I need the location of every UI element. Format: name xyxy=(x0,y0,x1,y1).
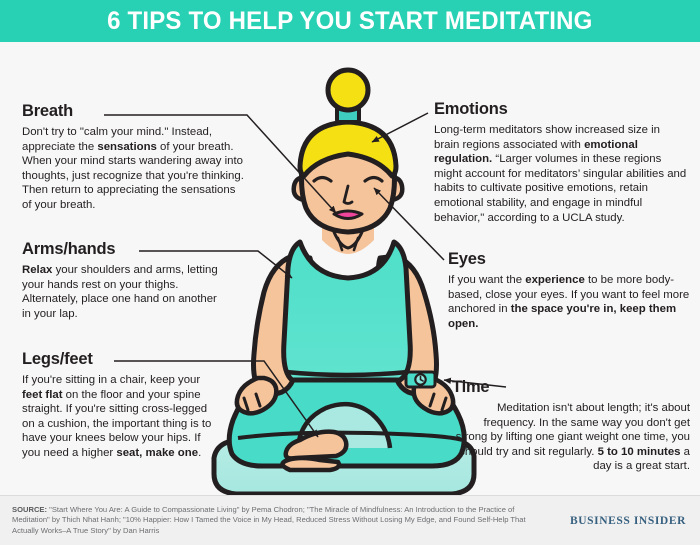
neck-shoulders xyxy=(322,220,374,254)
tip-time-title: Time xyxy=(452,378,690,397)
tip-eyes: Eyes If you want the experience to be mo… xyxy=(448,250,692,331)
wristwatch-icon xyxy=(406,372,435,387)
left-arm xyxy=(237,256,312,413)
meditation-mat xyxy=(214,441,474,494)
crossed-feet xyxy=(282,432,346,470)
hair-bun xyxy=(328,70,368,110)
source-note: SOURCE: "Start Where You Are: A Guide to… xyxy=(12,505,552,537)
tip-emotions-title: Emotions xyxy=(434,100,688,119)
tip-arms-hands: Arms/hands Relax your shoulders and arms… xyxy=(22,240,222,321)
infographic-canvas: Breath Don't try to "calm your mind." In… xyxy=(0,42,700,495)
tip-arms-hands-title: Arms/hands xyxy=(22,240,222,259)
tip-breath-title: Breath xyxy=(22,102,244,121)
footer: SOURCE: "Start Where You Are: A Guide to… xyxy=(0,495,700,545)
tip-time-body: Meditation isn't about length; it's abou… xyxy=(452,401,690,474)
head xyxy=(294,126,403,232)
tip-legs-feet-body: If you're sitting in a chair, keep your … xyxy=(22,373,218,461)
source-label: SOURCE: xyxy=(12,505,47,514)
tip-breath: Breath Don't try to "calm your mind." In… xyxy=(22,102,244,213)
tip-time: Time Meditation isn't about length; it's… xyxy=(452,378,690,474)
tip-legs-feet: Legs/feet If you're sitting in a chair, … xyxy=(22,350,218,461)
crossed-legs xyxy=(229,372,464,466)
hair-tie xyxy=(337,106,359,122)
right-arm xyxy=(378,256,453,413)
tip-legs-feet-title: Legs/feet xyxy=(22,350,218,369)
page-title: 6 TIPS TO HELP YOU START MEDITATING xyxy=(107,7,592,36)
source-text: "Start Where You Are: A Guide to Compass… xyxy=(12,505,526,535)
tank-top xyxy=(284,242,411,380)
page-header: 6 TIPS TO HELP YOU START MEDITATING xyxy=(0,0,700,42)
business-insider-logo: BUSINESS INSIDER xyxy=(570,515,686,527)
tip-arms-hands-body: Relax your shoulders and arms, letting y… xyxy=(22,263,222,321)
tip-eyes-title: Eyes xyxy=(448,250,692,269)
tip-breath-body: Don't try to "calm your mind." Instead, … xyxy=(22,125,244,213)
hair xyxy=(300,122,396,176)
tip-eyes-body: If you want the experience to be more bo… xyxy=(448,273,692,331)
tip-emotions: Emotions Long-term meditators show incre… xyxy=(434,100,688,225)
tip-emotions-body: Long-term meditators show increased size… xyxy=(434,123,688,225)
